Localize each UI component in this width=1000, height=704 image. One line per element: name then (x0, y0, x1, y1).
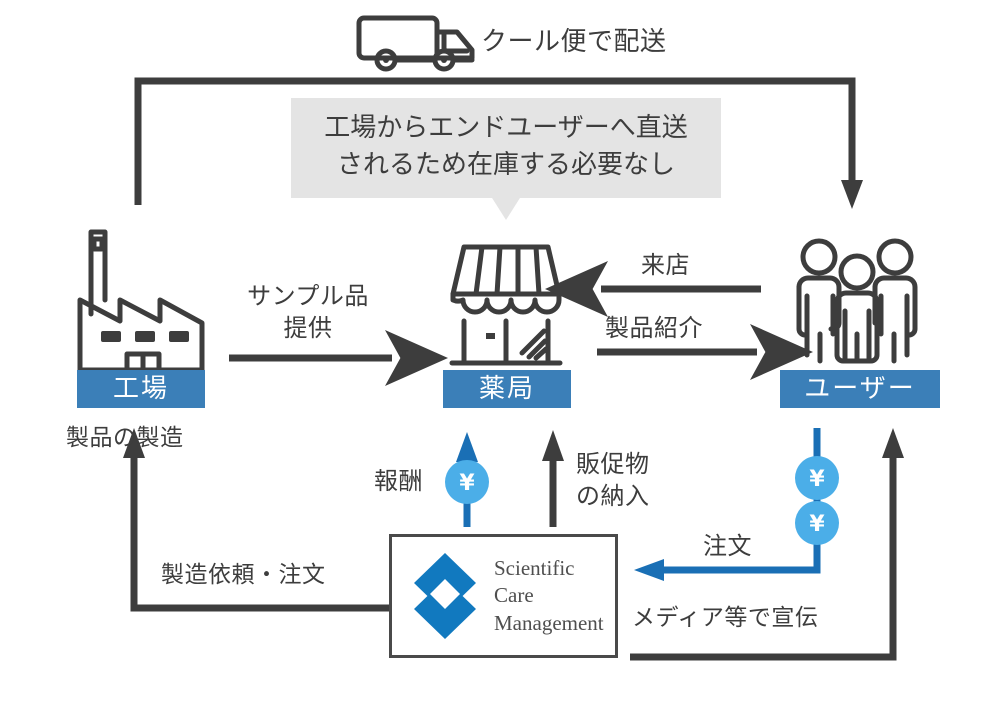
product-intro-label: 製品紹介 (605, 313, 703, 344)
media-promotion-arrowhead (882, 428, 904, 458)
bubble-line-2: されるため在庫する必要なし (317, 147, 695, 184)
media-promotion-label: メディア等で宣伝 (632, 604, 818, 633)
sample-supply-line-1: サンプル品 (233, 281, 383, 312)
sample-supply-line-2: 提供 (233, 313, 383, 344)
store-visit-label: 来店 (641, 250, 690, 281)
company-name: Scientific Care Management (494, 555, 604, 637)
order-arrowhead (634, 559, 664, 581)
bubble-tail-icon (487, 190, 525, 220)
svg-text:¥: ¥ (809, 512, 825, 537)
svg-text:¥: ¥ (459, 471, 475, 496)
reward-label: 報酬 (374, 466, 423, 497)
order-label: 注文 (703, 531, 752, 562)
reward-arrow: ¥ (445, 432, 489, 527)
factory-icon (80, 232, 202, 370)
company-logo-box[interactable]: Scientific Care Management (389, 534, 618, 658)
bubble-line-1: 工場からエンドユーザーへ直送 (317, 110, 695, 147)
company-name-line-1: Scientific (494, 555, 604, 582)
direct-ship-bubble: 工場からエンドユーザーへ直送 されるため在庫する必要なし (291, 98, 721, 198)
company-name-line-2: Care (494, 582, 604, 609)
company-name-line-3: Management (494, 610, 604, 637)
storefront-icon (452, 247, 560, 363)
diagram-canvas: ¥ ¥ ¥ クール便で配送 工場からエンドユーザーへ直送 されるため在庫する必要… (0, 0, 1000, 704)
node-label-factory[interactable]: 工場 (77, 370, 205, 408)
node-label-user[interactable]: ユーザー (780, 370, 940, 408)
manufacturing-order-label: 製造依頼・注文 (161, 561, 326, 590)
cool-delivery-arrowhead (841, 180, 863, 209)
people-group-icon (799, 241, 915, 361)
factory-caption: 製品の製造 (66, 424, 184, 453)
promo-delivery-arrowhead (542, 430, 564, 461)
truck-icon (359, 18, 472, 69)
svg-text:¥: ¥ (809, 467, 825, 492)
node-label-pharmacy[interactable]: 薬局 (443, 370, 571, 408)
cool-delivery-label: クール便で配送 (481, 26, 667, 59)
promo-delivery-line-1: 販促物 (576, 449, 650, 480)
reward-arrowhead (456, 432, 478, 462)
double-diamond-logo-icon (406, 553, 484, 639)
promo-delivery-line-2: の納入 (576, 481, 650, 512)
promo-delivery-arrow (542, 430, 564, 527)
